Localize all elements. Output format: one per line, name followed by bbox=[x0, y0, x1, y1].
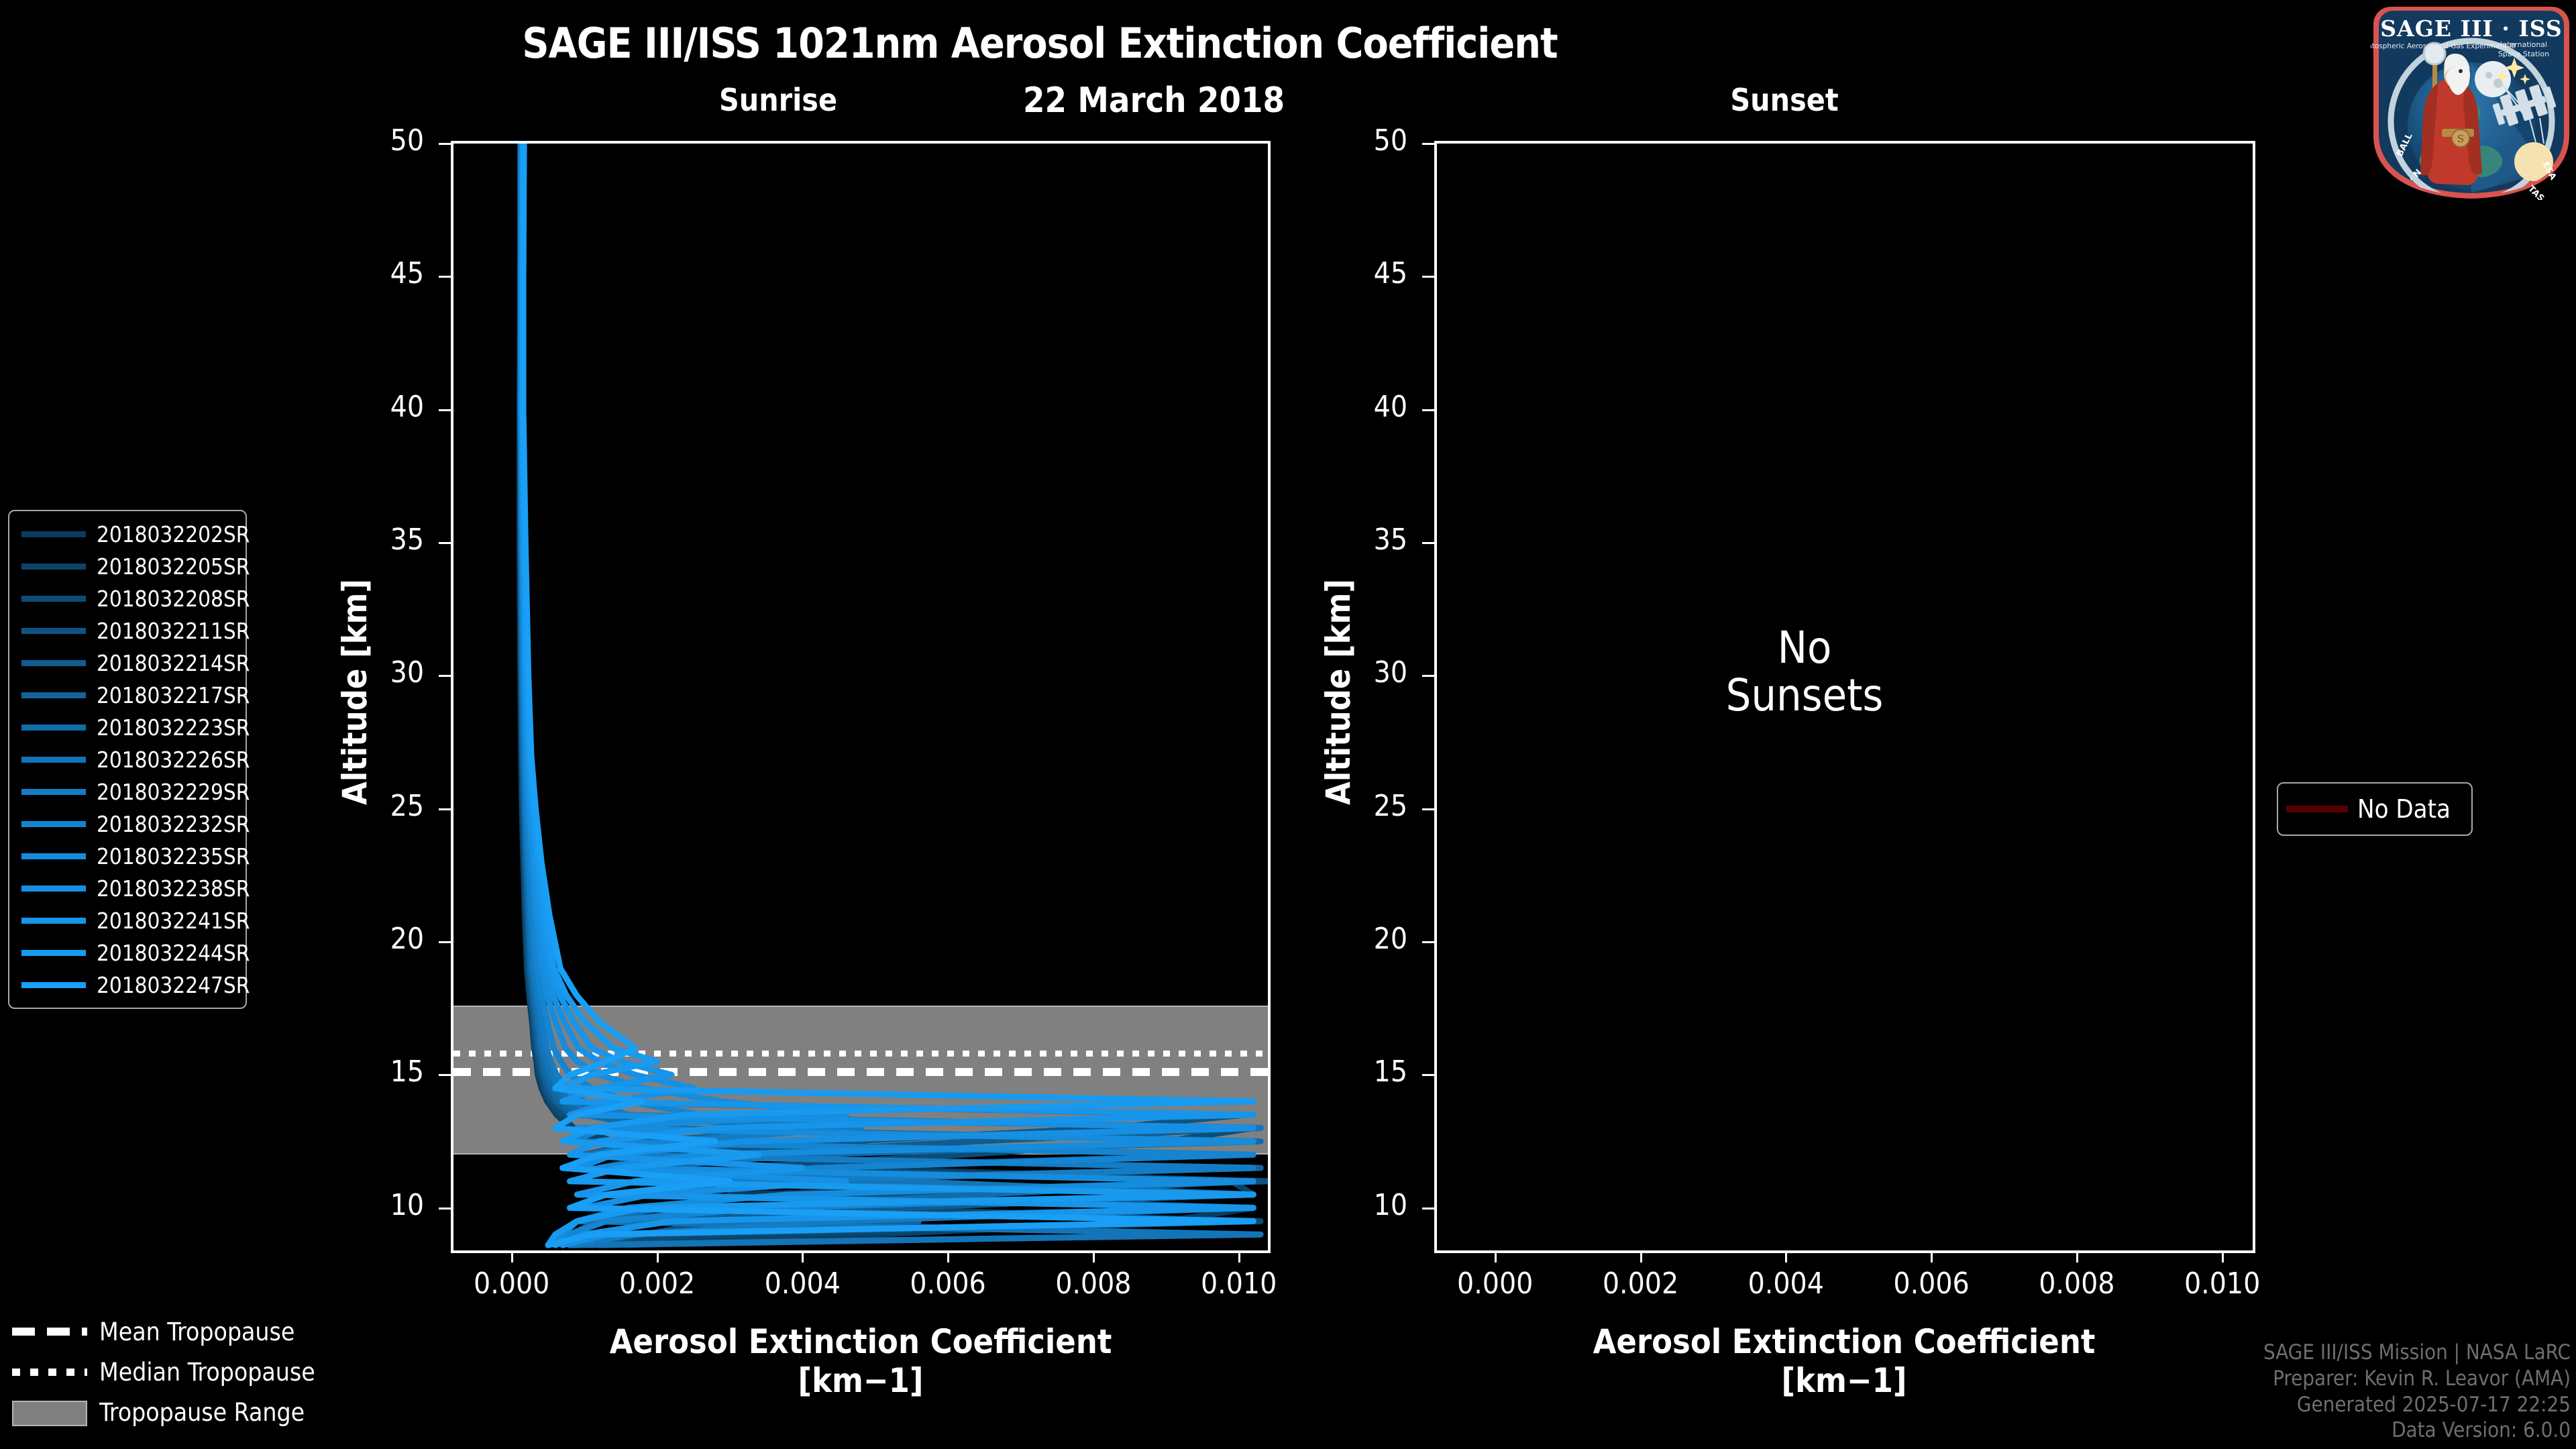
x-tick-label: 0.010 bbox=[1159, 1267, 1320, 1301]
legend-item-label: 2018032217SR bbox=[97, 682, 250, 708]
legend-line-swatch bbox=[21, 596, 86, 602]
legend-line-swatch bbox=[21, 950, 86, 956]
sunrise-plot-axes bbox=[451, 141, 1271, 1253]
y-tick-label: 50 bbox=[310, 123, 424, 158]
x-tick-label: 0.000 bbox=[431, 1267, 592, 1301]
y-tick bbox=[1422, 276, 1436, 278]
legend-line-swatch bbox=[21, 789, 86, 795]
legend-item-label: 2018032238SR bbox=[97, 875, 250, 902]
legend-item-label: 2018032247SR bbox=[97, 972, 250, 998]
y-tick bbox=[1422, 1074, 1436, 1076]
y-tick-label: 45 bbox=[310, 256, 424, 290]
x-tick bbox=[1931, 1250, 1933, 1263]
svg-text:S: S bbox=[2457, 133, 2464, 145]
legend-item[interactable]: 2018032238SR bbox=[9, 872, 246, 904]
tropopause-legend-label: Tropopause Range bbox=[99, 1398, 305, 1427]
credits-line: Generated 2025-07-17 22:25 bbox=[2263, 1392, 2571, 1418]
legend-item-label: 2018032241SR bbox=[97, 908, 250, 934]
legend-item[interactable]: 2018032223SR bbox=[9, 711, 246, 743]
legend-item-label: 2018032208SR bbox=[97, 586, 250, 612]
legend-line-swatch bbox=[21, 692, 86, 698]
x-tick-label: 0.002 bbox=[1560, 1267, 1721, 1301]
x-tick bbox=[1640, 1250, 1642, 1263]
tropopause-legend-item: Median Tropopause bbox=[12, 1352, 315, 1392]
logo-subtitle-right-2: Space Station bbox=[2498, 50, 2549, 58]
sunrise-data-curves bbox=[453, 144, 1268, 1250]
legend-item[interactable]: 2018032202SR bbox=[9, 518, 246, 550]
y-tick bbox=[439, 276, 452, 278]
sunrise-x-axis-label-line2: [km−1] bbox=[458, 1362, 1263, 1401]
x-tick-label: 0.002 bbox=[577, 1267, 738, 1301]
y-tick bbox=[1422, 808, 1436, 810]
legend-line-swatch bbox=[21, 853, 86, 859]
y-tick-label: 10 bbox=[310, 1188, 424, 1222]
y-tick-label: 15 bbox=[310, 1055, 424, 1089]
tropopause-legend-swatch bbox=[12, 1328, 87, 1336]
y-tick-label: 40 bbox=[1293, 390, 1407, 424]
x-tick bbox=[1785, 1250, 1787, 1263]
logo-ring-text-tasi: TAS-I · bbox=[2526, 184, 2555, 200]
page-title: SAGE III/ISS 1021nm Aerosol Extinction C… bbox=[0, 19, 2080, 68]
y-tick-label: 20 bbox=[1293, 922, 1407, 956]
legend-item[interactable]: 2018032208SR bbox=[9, 582, 246, 614]
y-tick bbox=[439, 941, 452, 943]
credits-line: Preparer: Kevin R. Leavor (AMA) bbox=[2263, 1366, 2571, 1392]
y-tick bbox=[1422, 143, 1436, 145]
logo-subtitle-left: Stratospheric Aerosol and Gas Experiment… bbox=[2371, 42, 2516, 50]
legend-item[interactable]: 2018032247SR bbox=[9, 969, 246, 1001]
y-tick bbox=[1422, 675, 1436, 677]
y-tick bbox=[1422, 941, 1436, 943]
y-tick bbox=[439, 1207, 452, 1210]
logo-subtitle-right-1: International bbox=[2500, 40, 2547, 49]
legend-line-swatch bbox=[21, 885, 86, 892]
legend-item-label: 2018032223SR bbox=[97, 714, 250, 741]
tropopause-legend-key bbox=[12, 1403, 87, 1421]
x-tick bbox=[947, 1250, 949, 1263]
x-tick-label: 0.004 bbox=[1705, 1267, 1866, 1301]
legend-item-label: 2018032229SR bbox=[97, 779, 250, 805]
y-tick-label: 15 bbox=[1293, 1055, 1407, 1089]
x-tick-label: 0.008 bbox=[1013, 1267, 1174, 1301]
y-tick bbox=[439, 143, 452, 145]
y-tick bbox=[439, 1074, 452, 1076]
legend-item[interactable]: 2018032217SR bbox=[9, 679, 246, 711]
legend-item[interactable]: 2018032232SR bbox=[9, 808, 246, 840]
x-tick bbox=[2222, 1250, 2224, 1263]
legend-item[interactable]: 2018032241SR bbox=[9, 904, 246, 936]
tropopause-legend-key bbox=[12, 1323, 87, 1340]
x-tick bbox=[802, 1250, 804, 1263]
x-tick-label: 0.006 bbox=[867, 1267, 1028, 1301]
sunrise-x-axis-label: Aerosol Extinction Coefficient [km−1] bbox=[458, 1323, 1263, 1400]
legend-line-swatch bbox=[21, 531, 86, 537]
sunset-x-axis-label-line1: Aerosol Extinction Coefficient bbox=[1442, 1323, 2247, 1362]
tropopause-legend-label: Mean Tropopause bbox=[99, 1318, 294, 1346]
date-subtitle: 22 March 2018 bbox=[953, 80, 1355, 121]
legend-item[interactable]: 2018032226SR bbox=[9, 743, 246, 775]
y-tick bbox=[1422, 409, 1436, 411]
y-tick-label: 45 bbox=[1293, 256, 1407, 290]
legend-line-swatch bbox=[21, 660, 86, 666]
tropopause-legend-label: Median Tropopause bbox=[99, 1358, 315, 1387]
no-sunsets-line2: Sunsets bbox=[1630, 672, 1979, 719]
sunset-panel-title: Sunset bbox=[1610, 82, 1959, 118]
extinction-profile-line bbox=[523, 144, 1253, 1245]
tropopause-legend-item: Tropopause Range bbox=[12, 1392, 315, 1432]
legend-item[interactable]: 2018032229SR bbox=[9, 775, 246, 808]
y-tick-label: 50 bbox=[1293, 123, 1407, 158]
y-tick-label: 10 bbox=[1293, 1188, 1407, 1222]
legend-item-label: 2018032244SR bbox=[97, 940, 250, 966]
credits-line: SAGE III/ISS Mission | NASA LaRC bbox=[2263, 1340, 2571, 1366]
y-tick-label: 20 bbox=[310, 922, 424, 956]
sage-iii-iss-mission-patch-logo: S SAGE III · ISS Stratospheric Aerosol a… bbox=[2371, 4, 2572, 200]
legend-line-swatch bbox=[21, 628, 86, 634]
logo-title: SAGE III · ISS bbox=[2380, 15, 2562, 42]
no-data-legend[interactable]: No Data bbox=[2277, 782, 2473, 836]
sunset-x-axis-label-line2: [km−1] bbox=[1442, 1362, 2247, 1401]
x-tick-label: 0.000 bbox=[1415, 1267, 1576, 1301]
sunset-y-axis-label: Altitude [km] bbox=[1319, 579, 1358, 805]
legend-line-swatch bbox=[21, 563, 86, 570]
no-sunsets-line1: No bbox=[1630, 624, 1979, 672]
y-tick-label: 35 bbox=[310, 523, 424, 557]
legend-item[interactable]: 2018032235SR bbox=[9, 840, 246, 872]
legend-item[interactable]: 2018032244SR bbox=[9, 936, 246, 969]
y-tick-label: 35 bbox=[1293, 523, 1407, 557]
y-tick bbox=[439, 409, 452, 411]
no-data-line-swatch bbox=[2286, 806, 2348, 812]
y-tick bbox=[439, 808, 452, 810]
legend-line-swatch bbox=[21, 982, 86, 988]
legend-line-swatch bbox=[21, 821, 86, 827]
x-tick bbox=[1093, 1250, 1095, 1263]
sunrise-panel-title: Sunrise bbox=[604, 82, 953, 118]
legend-item-label: 2018032226SR bbox=[97, 747, 250, 773]
legend-item[interactable]: 2018032214SR bbox=[9, 647, 246, 679]
sunrise-series-legend[interactable]: 2018032202SR2018032205SR2018032208SR2018… bbox=[8, 510, 247, 1009]
legend-item-label: 2018032202SR bbox=[97, 521, 250, 547]
credits-line: Data Version: 6.0.0 bbox=[2263, 1417, 2571, 1444]
y-tick bbox=[439, 542, 452, 544]
legend-line-swatch bbox=[21, 757, 86, 763]
x-tick bbox=[1238, 1250, 1240, 1263]
legend-line-swatch bbox=[21, 918, 86, 924]
x-tick-label: 0.010 bbox=[2142, 1267, 2303, 1301]
legend-item-label: 2018032235SR bbox=[97, 843, 250, 869]
legend-line-swatch bbox=[21, 724, 86, 731]
x-tick-label: 0.004 bbox=[722, 1267, 883, 1301]
y-tick bbox=[1422, 1207, 1436, 1210]
x-tick bbox=[657, 1250, 659, 1263]
y-tick bbox=[1422, 542, 1436, 544]
y-tick bbox=[439, 675, 452, 677]
x-tick bbox=[511, 1250, 513, 1263]
x-tick-label: 0.006 bbox=[1851, 1267, 2012, 1301]
y-tick-label: 40 bbox=[310, 390, 424, 424]
legend-item-label: 2018032214SR bbox=[97, 650, 250, 676]
sunset-x-axis-label: Aerosol Extinction Coefficient [km−1] bbox=[1442, 1323, 2247, 1400]
legend-item-label: 2018032232SR bbox=[97, 811, 250, 837]
tropopause-legend: Mean TropopauseMedian TropopauseTropopau… bbox=[12, 1311, 315, 1432]
tropopause-legend-item: Mean Tropopause bbox=[12, 1311, 315, 1352]
no-sunsets-message: No Sunsets bbox=[1630, 624, 1979, 720]
legend-item[interactable]: 2018032211SR bbox=[9, 614, 246, 647]
tropopause-legend-key bbox=[12, 1363, 87, 1381]
x-tick-label: 0.008 bbox=[1996, 1267, 2157, 1301]
legend-item[interactable]: 2018032205SR bbox=[9, 550, 246, 582]
credits-block: SAGE III/ISS Mission | NASA LaRCPreparer… bbox=[2263, 1340, 2571, 1444]
legend-item-label: 2018032205SR bbox=[97, 553, 250, 580]
sunrise-plot-area bbox=[453, 144, 1268, 1250]
figure-canvas: SAGE III/ISS 1021nm Aerosol Extinction C… bbox=[0, 0, 2576, 1449]
sunrise-x-axis-label-line1: Aerosol Extinction Coefficient bbox=[458, 1323, 1263, 1362]
legend-item-label: 2018032211SR bbox=[97, 618, 250, 644]
tropopause-legend-swatch bbox=[12, 1401, 87, 1426]
no-data-legend-label: No Data bbox=[2357, 794, 2451, 824]
sunrise-y-axis-label: Altitude [km] bbox=[335, 579, 374, 805]
x-tick bbox=[2076, 1250, 2078, 1263]
x-tick bbox=[1495, 1250, 1497, 1263]
tropopause-legend-swatch bbox=[12, 1368, 87, 1376]
